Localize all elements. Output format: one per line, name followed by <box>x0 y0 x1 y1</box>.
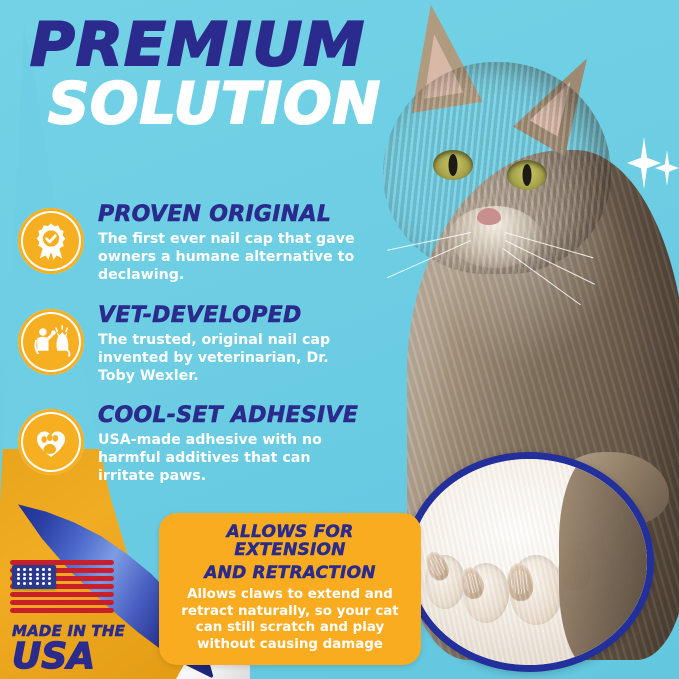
feature-item: VET-DEVELOPED The trusted, original nail… <box>18 303 408 386</box>
paw-closeup-oval <box>404 452 654 672</box>
headline-line-2: SOLUTION <box>48 77 430 131</box>
feature-description: USA-made adhesive with no harmful additi… <box>98 431 366 486</box>
callout-title-line-1: ALLOWS FOR EXTENSION <box>171 523 409 559</box>
headline-block: PREMIUM SOLUTION <box>30 18 430 131</box>
badge-line-2: USA <box>12 641 128 673</box>
feature-description: The trusted, original nail cap invented … <box>98 331 366 386</box>
made-in-usa-badge: MADE IN THE USA <box>8 560 128 673</box>
headline-line-1: PREMIUM <box>30 18 438 73</box>
paw-photo <box>411 459 647 665</box>
callout-title-line-2: AND RETRACTION <box>171 564 409 582</box>
vet-highfive-cat-icon <box>18 309 84 375</box>
cat-eye-right <box>507 160 547 190</box>
flag-canton <box>12 565 56 589</box>
callout-description: Allows claws to extend and retract natur… <box>171 587 409 653</box>
cat-eye-left <box>433 150 473 180</box>
award-ribbon-icon <box>18 208 84 274</box>
cat-nose <box>477 208 501 225</box>
feature-title: COOL-SET ADHESIVE <box>98 405 408 427</box>
feature-title: VET-DEVELOPED <box>98 305 408 327</box>
feature-item: COOL-SET ADHESIVE USA-made adhesive with… <box>18 403 408 486</box>
feature-title: PROVEN ORIGINAL <box>98 204 408 226</box>
callout-box: ALLOWS FOR EXTENSION AND RETRACTION Allo… <box>159 513 421 665</box>
cat-leg-edge <box>559 453 651 672</box>
product-infographic: PREMIUM SOLUTION PROVEN ORIGINAL The f <box>0 0 679 679</box>
us-flag-icon <box>10 560 114 618</box>
feature-list: PROVEN ORIGINAL The first ever nail cap … <box>18 202 408 504</box>
feature-item: PROVEN ORIGINAL The first ever nail cap … <box>18 202 408 285</box>
feature-description: The first ever nail cap that gave owners… <box>98 230 366 285</box>
heart-paw-icon <box>18 409 84 475</box>
